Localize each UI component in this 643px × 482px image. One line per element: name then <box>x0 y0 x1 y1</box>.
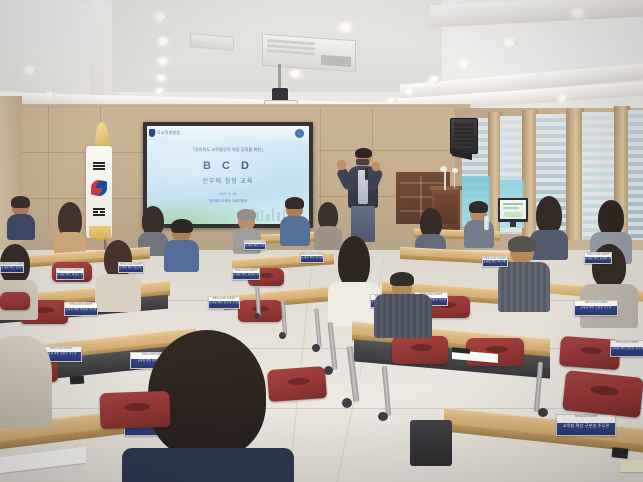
attendee-top <box>7 214 35 240</box>
attendee-top <box>95 274 141 312</box>
phone[interactable] <box>612 447 629 459</box>
air-conditioner-unit <box>262 34 356 73</box>
monitor[interactable] <box>498 198 528 222</box>
downlight <box>503 38 518 48</box>
name-placard: 전라북도교육청 교육행정직 교육청 확인 박지영 주무관 <box>64 302 98 316</box>
downlight <box>404 88 415 95</box>
name-placard: 전라북도교육청 교육행정직 교육청 확인 윤태호 주무관 <box>232 268 260 280</box>
chair-seat[interactable] <box>410 420 452 466</box>
chair[interactable] <box>392 336 448 364</box>
presentation-slide: 한국교육개발원 「전라북도 교육행정직 역량 강화를 위한」 B C D 인부애… <box>147 126 309 224</box>
placard-top-text: 전라북도교육청 교육행정직 <box>557 415 615 418</box>
placard-name-text: 교육청 확인 노상현 주무관 <box>575 306 617 310</box>
attendee-top <box>122 448 294 482</box>
caster <box>378 412 388 421</box>
downlight <box>157 37 170 46</box>
downlight <box>153 12 168 22</box>
caster <box>538 408 548 417</box>
name-placard: 전라북도교육청 교육행정직 교육청 확인 심유진 주무관 <box>610 340 643 357</box>
left-wall-return <box>0 96 22 266</box>
placard-top-text: 전라북도교육청 교육행정직 <box>611 341 643 344</box>
attendee-top <box>498 262 550 312</box>
attendee-top <box>164 240 199 272</box>
presenter-hair <box>355 148 372 158</box>
placard-name-text: 교육청 확인 박지영 주무관 <box>65 308 97 312</box>
placard-name-text: 교육청 확인 강은지 주무관 <box>119 266 143 270</box>
downlight <box>570 8 587 19</box>
caster <box>254 313 260 319</box>
microphone-stand <box>454 172 455 188</box>
monitor-stand <box>510 221 516 227</box>
placard-name-text: 교육청 확인 문세빈 주무관 <box>585 257 611 261</box>
name-placard: 전라북도교육청 교육행정직 교육청 확인 오준혁 주무관 <box>244 240 266 250</box>
notepad <box>620 460 643 472</box>
name-placard: 전라북도교육청 교육행정직 교육청 확인 김민수 주무관 <box>0 262 24 273</box>
window-5 <box>628 110 643 240</box>
name-placard: 전라북도교육청 교육행정직 교육청 확인 노상현 주무관 <box>574 300 618 316</box>
caster <box>342 398 352 408</box>
chair[interactable] <box>99 391 170 429</box>
chair[interactable] <box>267 366 327 402</box>
placard-name-text: 교육청 확인 윤태호 주무관 <box>233 273 259 277</box>
placard-name-text: 교육청 확인 김민수 주무관 <box>1 266 23 270</box>
attendee-top <box>314 226 342 250</box>
attendee-top <box>280 216 310 246</box>
attendee-top <box>0 336 52 428</box>
placard-name-text: 교육청 확인 이정훈 주무관 <box>57 273 83 277</box>
placard-top-text: 전라북도교육청 교육행정직 <box>575 301 617 304</box>
placard-name-text: 교육청 확인 하나래 주무관 <box>483 260 507 264</box>
presenter-hand-left <box>337 160 346 170</box>
name-placard: 전라북도교육청 교육행정직 교육청 확인 강은지 주무관 <box>118 262 144 273</box>
caster <box>279 332 286 339</box>
downlight <box>44 92 55 99</box>
placard-top-text: 전라북도교육청 교육행정직 <box>65 303 97 306</box>
placard-name-text: 교육청 확인 오준혁 주무관 <box>245 244 265 248</box>
water-bottle <box>484 216 489 230</box>
microphone-head-icon <box>440 166 447 172</box>
caster <box>312 344 320 352</box>
handheld-microphone <box>365 168 368 180</box>
placard-name-text: 교육청 확인 임소라 주무관 <box>209 301 239 305</box>
placard-top-text: 전라북도교육청 교육행정직 <box>585 253 611 256</box>
phone[interactable] <box>70 376 85 385</box>
name-placard: 전라북도교육청 교육행정직 교육청 확인 임소라 주무관 <box>208 296 240 309</box>
placard-name-text: 교육청 확인 심유진 주무관 <box>611 347 643 351</box>
downlight <box>458 60 471 69</box>
chair[interactable] <box>0 292 30 310</box>
downlight <box>338 22 354 33</box>
placard-top-text: 전라북도교육청 교육행정직 <box>41 347 81 350</box>
microphone-stand <box>444 170 446 190</box>
face-mask <box>356 159 369 165</box>
placard-top-text: 전라북도교육청 교육행정직 <box>209 297 239 300</box>
downlight <box>557 95 568 102</box>
downlight <box>156 75 167 82</box>
downlight <box>428 76 440 84</box>
placard-name-text: 교육청 확인 구본영 주무관 <box>557 423 615 428</box>
downlight <box>157 58 169 66</box>
placard-name-text: 교육청 확인 한미경 주무관 <box>301 256 323 260</box>
name-placard: 전라북도교육청 교육행정직 교육청 확인 구본영 주무관 <box>556 414 616 436</box>
name-placard: 전라북도교육청 교육행정직 교육청 확인 하나래 주무관 <box>482 256 508 267</box>
name-placard: 전라북도교육청 교육행정직 교육청 확인 한미경 주무관 <box>300 252 324 263</box>
placard-top-text: 전라북도교육청 교육행정직 <box>233 269 259 272</box>
presenter <box>340 150 386 250</box>
name-placard: 전라북도교육청 교육행정직 교육청 확인 문세빈 주무관 <box>584 252 612 264</box>
chair[interactable] <box>562 370 643 418</box>
korean-flag <box>86 146 112 238</box>
attendee-hair <box>11 196 30 208</box>
attendee-top <box>374 294 432 338</box>
downlight <box>155 88 165 94</box>
placard-top-text: 전라북도교육청 교육행정직 <box>57 269 83 272</box>
attendee-top <box>464 220 494 248</box>
ceiling-soffit-left <box>90 0 104 105</box>
presenter-hand-right <box>372 162 380 171</box>
downlight <box>24 66 37 75</box>
photo-scene: 한국교육개발원 「전라북도 교육행정직 역량 강화를 위한」 B C D 인부애… <box>0 0 643 482</box>
name-placard: 전라북도교육청 교육행정직 교육청 확인 이정훈 주무관 <box>56 268 84 280</box>
downlight <box>290 70 302 78</box>
